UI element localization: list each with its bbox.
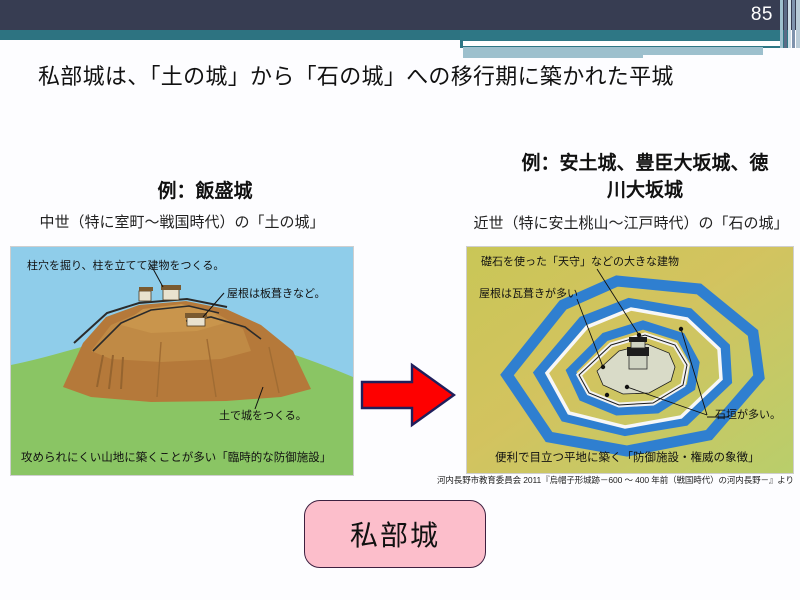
- stone-castle-illustration: 礎石を使った「天守」などの大きな建物 屋根は瓦葺きが多い 石垣が多い。 便利で目…: [466, 246, 794, 474]
- transition-arrow: [360, 362, 456, 428]
- right-caption-2: 屋根は瓦葺きが多い: [479, 285, 578, 301]
- stone-castle-graphic: [467, 247, 793, 473]
- header-stripe-2: [784, 0, 787, 48]
- right-illustration-footer: 便利で目立つ平地に築く「防御施設・権威の象徴」: [495, 449, 760, 465]
- page-number: 85: [751, 1, 773, 29]
- header-stripe-5: [796, 0, 800, 48]
- callout-label: 私部城: [350, 514, 440, 554]
- header-white-strip: [463, 41, 783, 46]
- left-caption-1: 柱穴を掘り、柱を立てて建物をつくる。: [27, 257, 224, 273]
- right-caption-1: 礎石を使った「天守」などの大きな建物: [481, 253, 679, 269]
- slide-canvas: 85 私部城は、「土の城」から「石の城」への移行期に築かれた平城 例：飯盛城 中…: [0, 0, 800, 600]
- source-citation: 河内長野市教育委員会 2011『烏帽子形城跡－600 ～ 400 年前（戦国時代…: [437, 474, 794, 486]
- left-period-label: 中世（特に室町～戦国時代）の「土の城」: [2, 211, 362, 232]
- header-pale-strip-short: [463, 47, 643, 58]
- earthen-castle-graphic: [11, 247, 353, 475]
- header-dark-bar: [0, 0, 800, 30]
- kisabe-castle-callout: 私部城: [304, 500, 486, 568]
- header-stripe-3: [788, 0, 791, 48]
- left-caption-3: 土で城をつくる。: [219, 407, 307, 423]
- left-illustration-footer: 攻められにくい山地に築くことが多い「臨時的な防御施設」: [21, 449, 331, 465]
- earthen-castle-illustration: 柱穴を掘り、柱を立てて建物をつくる。 屋根は板葺きなど。 土で城をつくる。 攻め…: [10, 246, 354, 476]
- left-example-label: 例：飯盛城: [60, 176, 350, 203]
- header-stripe-4: [792, 0, 795, 48]
- page-title: 私部城は、「土の城」から「石の城」への移行期に築かれた平城: [38, 62, 738, 92]
- right-example-label: 例：安土城、豊臣大坂城、徳川大坂城: [520, 150, 770, 204]
- header-stripe-1: [780, 0, 783, 48]
- left-caption-2: 屋根は板葺きなど。: [227, 285, 325, 301]
- right-caption-3: 石垣が多い。: [715, 406, 781, 422]
- right-period-label: 近世（特に安土桃山～江戸時代）の「石の城」: [462, 212, 800, 233]
